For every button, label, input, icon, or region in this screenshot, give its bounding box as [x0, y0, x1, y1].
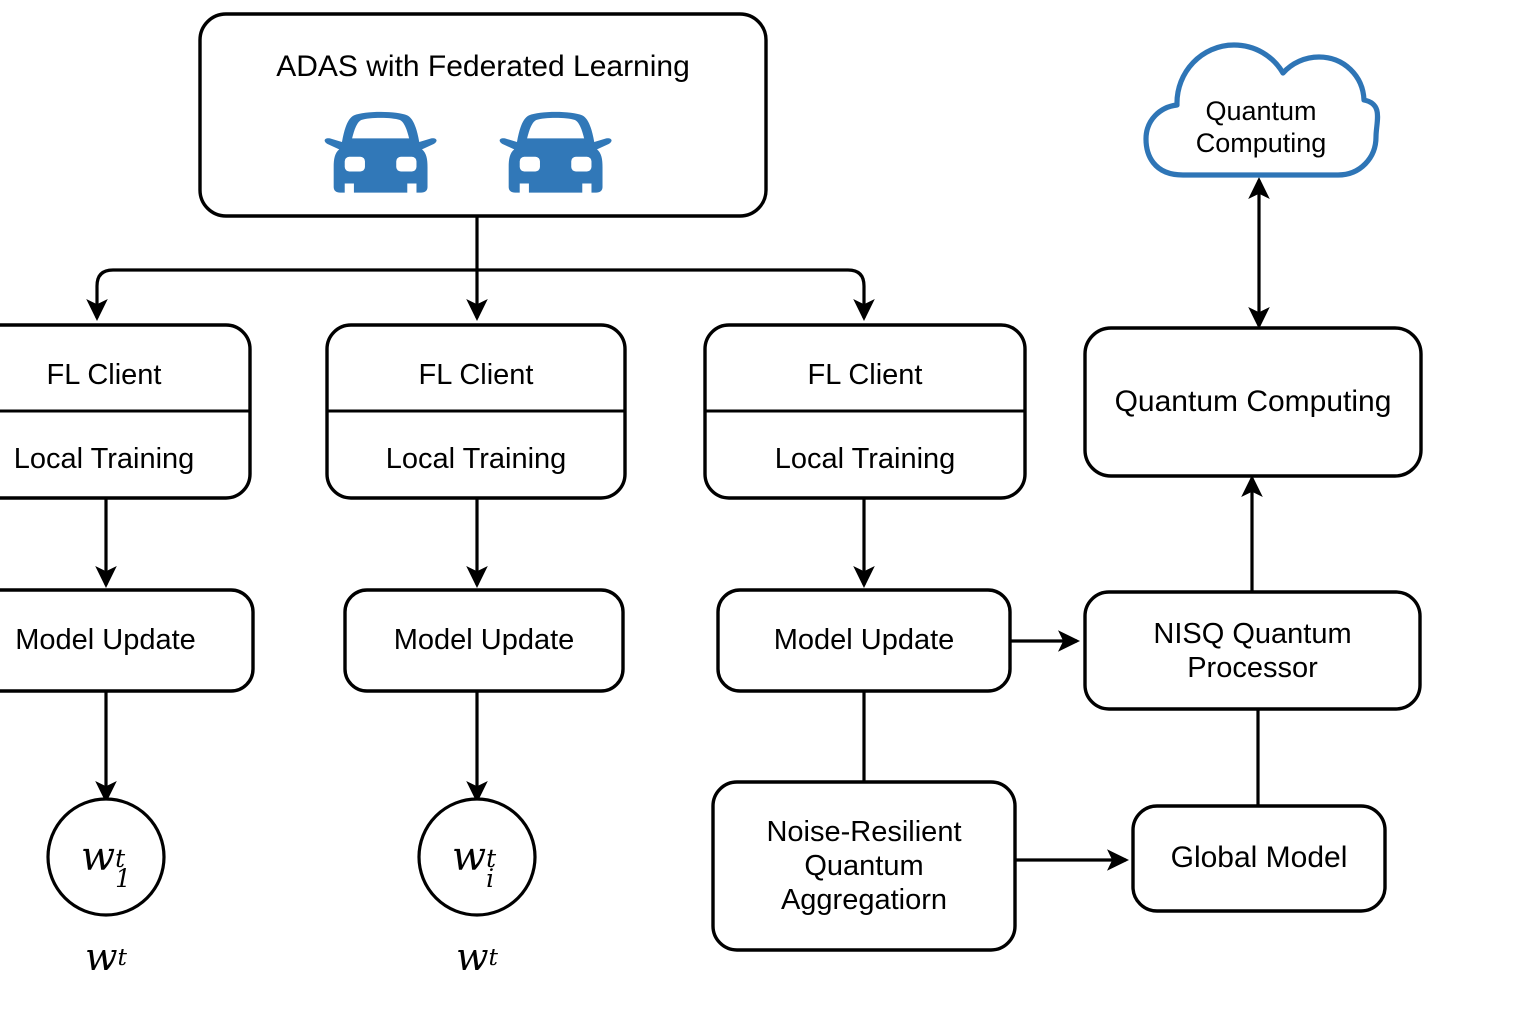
weight-base-2: w	[452, 834, 486, 880]
model-update-box-1[interactable]	[0, 590, 253, 691]
diagram-canvas: ADAS with Federated Learning Quantum Com…	[0, 0, 1536, 1024]
weight-caption-base-2: w	[456, 935, 489, 979]
weight-caption-sup-2: t	[489, 943, 498, 971]
weight-caption-sup-1: t	[118, 943, 127, 971]
aggregation-box[interactable]	[713, 782, 1015, 950]
nisq-box[interactable]	[1085, 592, 1420, 709]
weight-caption-base-1: w	[85, 935, 118, 979]
weight-caption-2: wt	[427, 930, 527, 984]
weight-sub-1: 1	[115, 864, 131, 893]
model-update-box-2[interactable]	[345, 590, 623, 691]
diagram-edges-layer	[0, 0, 1536, 1024]
weight-sub-2: i	[486, 864, 494, 893]
weight-symbol-1: wt1	[56, 827, 156, 887]
quantum-computing-box[interactable]	[1085, 328, 1421, 476]
edge-split-right-corner	[848, 270, 864, 300]
weight-symbol-2: wti	[427, 827, 527, 887]
edge-split-left-corner	[97, 270, 113, 300]
adas-box[interactable]	[200, 14, 766, 216]
weight-caption-1: wt	[56, 930, 156, 984]
model-update-box-3[interactable]	[718, 590, 1010, 691]
global-model-box[interactable]	[1133, 806, 1385, 911]
weight-base-1: w	[81, 834, 115, 880]
cloud-icon[interactable]	[1146, 45, 1378, 175]
